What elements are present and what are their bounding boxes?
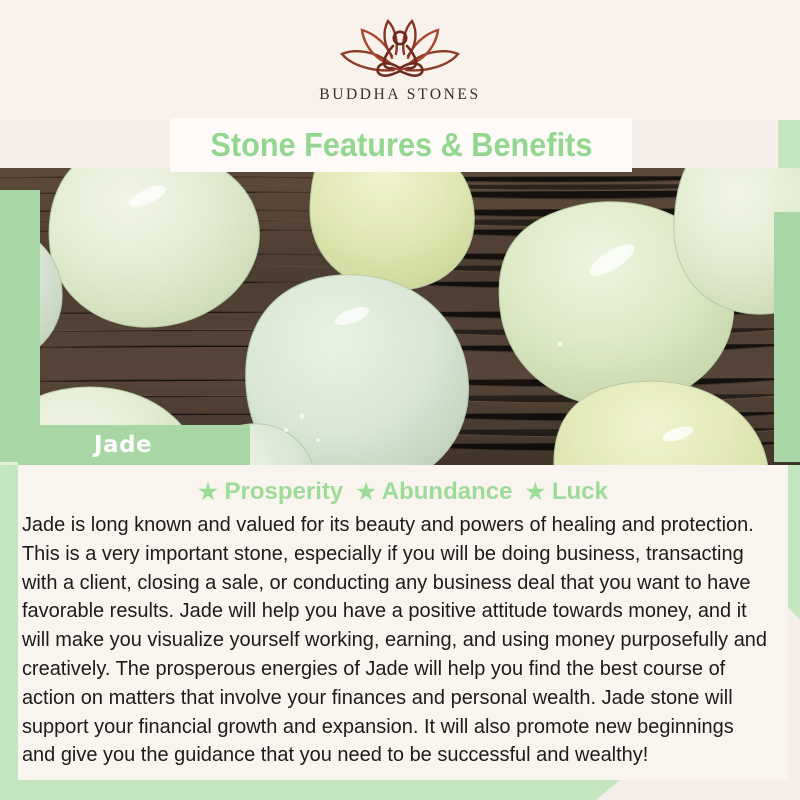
brand-wordmark: BUDDHA STONES bbox=[0, 86, 800, 104]
benefit-label-1: Abundance bbox=[382, 478, 513, 505]
decor-block-photo-right bbox=[774, 212, 800, 462]
header: BUDDHA STONES bbox=[0, 0, 800, 120]
brand-logo: BUDDHA STONES bbox=[0, 18, 800, 104]
benefit-item-0: ★ Prosperity bbox=[198, 478, 343, 506]
benefit-item-2: ★ Luck bbox=[525, 478, 607, 506]
decor-band-bottom bbox=[0, 780, 620, 800]
stone-photo bbox=[0, 168, 800, 465]
page-title: Stone Features & Benefits bbox=[210, 126, 592, 164]
title-banner: Stone Features & Benefits bbox=[170, 118, 632, 172]
star-icon: ★ bbox=[356, 479, 376, 504]
benefit-item-1: ★ Abundance bbox=[356, 478, 512, 506]
benefit-label-0: Prosperity bbox=[225, 478, 344, 505]
star-icon: ★ bbox=[525, 479, 545, 504]
lotus-meditation-icon bbox=[334, 18, 466, 80]
star-icon: ★ bbox=[198, 479, 218, 504]
stone-name-label: Jade bbox=[94, 432, 152, 458]
content-panel: ★ Prosperity★ Abundance★ Luck Jade is lo… bbox=[18, 465, 788, 780]
stone-benefits-poster: BUDDHA STONES bbox=[0, 0, 800, 800]
decor-block-photo-left bbox=[0, 190, 40, 462]
stone-description: Jade is long known and valued for its be… bbox=[18, 511, 776, 770]
stone-photo-graphic bbox=[0, 168, 800, 465]
stone-name-bar: Jade bbox=[18, 425, 250, 465]
benefits-list: ★ Prosperity★ Abundance★ Luck bbox=[18, 478, 788, 506]
benefit-label-2: Luck bbox=[552, 478, 608, 505]
